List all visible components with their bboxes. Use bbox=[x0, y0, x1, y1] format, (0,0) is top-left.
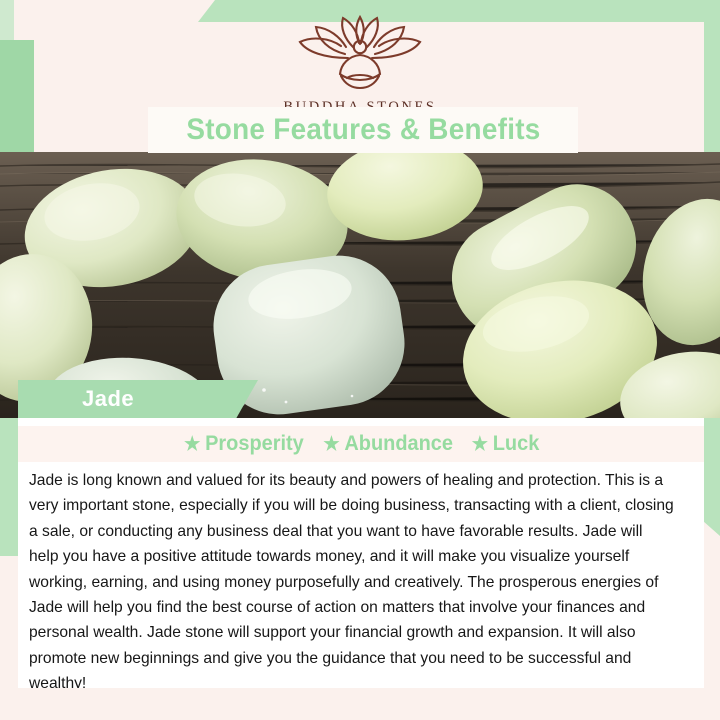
page-title: Stone Features & Benefits bbox=[186, 113, 540, 147]
title-band: Stone Features & Benefits bbox=[148, 107, 578, 153]
stone-name-band: Jade bbox=[18, 380, 258, 418]
stone-description: Jade is long known and valued for its be… bbox=[29, 468, 674, 697]
benefit-label: Prosperity bbox=[205, 432, 304, 456]
benefit-prosperity: ★ Prosperity bbox=[184, 432, 304, 456]
content-panel: ★ Prosperity ★ Abundance ★ Luck Jade is … bbox=[18, 418, 704, 702]
benefit-label: Abundance bbox=[345, 432, 454, 456]
stone-name: Jade bbox=[82, 386, 134, 412]
star-icon: ★ bbox=[184, 435, 200, 454]
benefit-abundance: ★ Abundance bbox=[324, 432, 454, 456]
star-icon: ★ bbox=[471, 435, 487, 454]
green-accent-right-lower bbox=[704, 418, 720, 536]
lotus-meditation-icon bbox=[285, 14, 435, 97]
benefit-label: Luck bbox=[492, 432, 539, 456]
star-icon: ★ bbox=[324, 435, 340, 454]
benefits-row: ★ Prosperity ★ Abundance ★ Luck bbox=[18, 426, 704, 462]
stone-info-card: BUDDHA STONES Stone Features & Benefits bbox=[0, 0, 720, 720]
brand-logo: BUDDHA STONES bbox=[0, 14, 720, 116]
bottom-cream-strip bbox=[18, 688, 704, 720]
stone-photo bbox=[0, 152, 720, 418]
benefit-luck: ★ Luck bbox=[471, 432, 539, 456]
